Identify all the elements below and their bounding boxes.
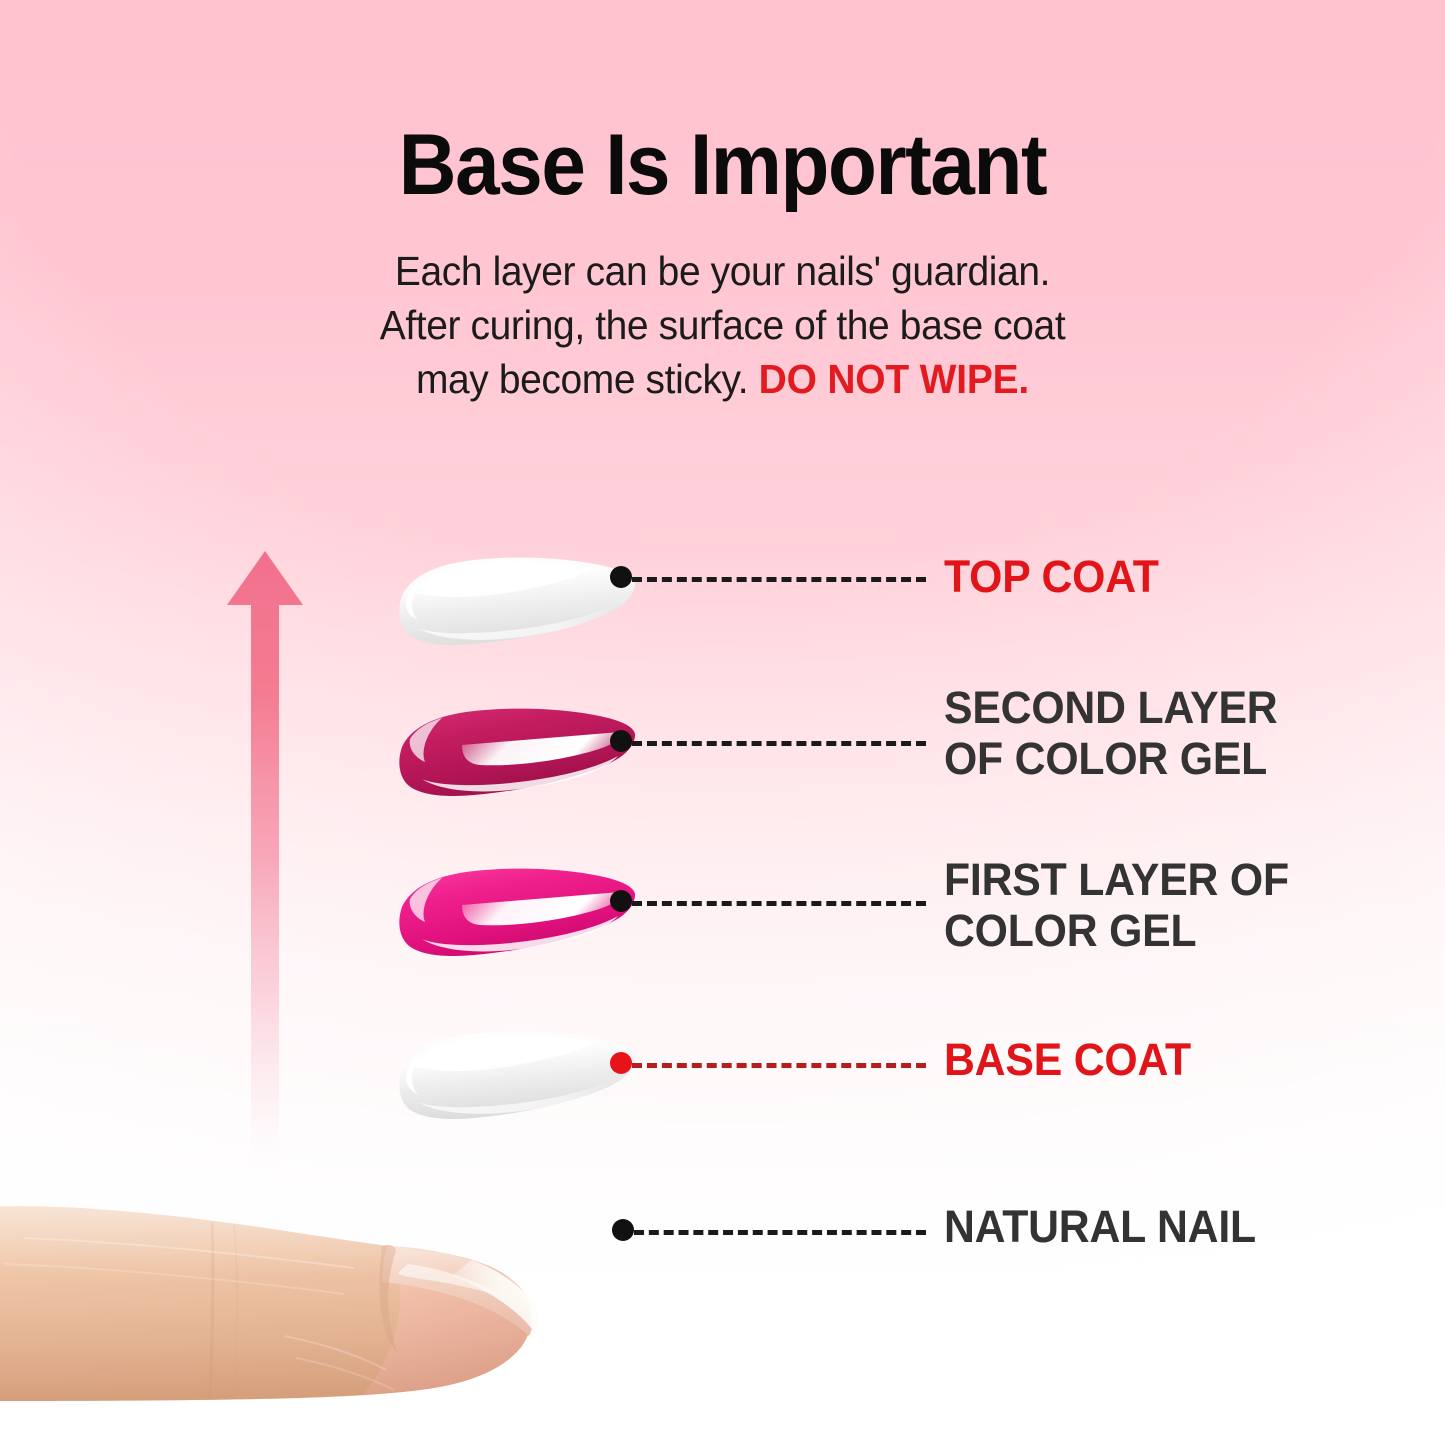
leader-line-first-layer-color-gel: [632, 901, 926, 906]
infographic-canvas: Base Is Important Each layer can be your…: [0, 0, 1445, 1445]
label-base-coat: BASE COAT: [944, 1034, 1191, 1085]
page-title: Base Is Important: [51, 0, 1395, 208]
marker-dot-first-layer-color-gel: [610, 890, 632, 912]
nail-second-layer-color-gel: [388, 703, 638, 815]
leader-line-second-layer-color-gel: [632, 741, 926, 746]
marker-dot-base-coat: [610, 1052, 632, 1074]
label-first-layer-color-gel: FIRST LAYER OF COLOR GEL: [944, 854, 1289, 957]
do-not-wipe-warning: DO NOT WIPE.: [759, 356, 1029, 402]
leader-line-natural-nail: [634, 1230, 926, 1235]
finger-with-natural-nail: [0, 1168, 604, 1445]
label-top-coat: TOP COAT: [944, 551, 1159, 602]
subtitle-line-2: After curing, the surface of the base co…: [36, 298, 1409, 352]
up-arrow-icon: [219, 548, 311, 1188]
subtitle-line-3-text: may become sticky.: [416, 356, 759, 402]
nail-first-layer-color-gel: [388, 863, 638, 975]
header-block: Base Is Important Each layer can be your…: [0, 0, 1445, 406]
label-second-layer-color-gel: SECOND LAYER OF COLOR GEL: [944, 682, 1277, 785]
subtitle-line-1: Each layer can be your nails' guardian.: [36, 244, 1409, 298]
leader-line-base-coat: [632, 1063, 926, 1068]
nail-base-coat: [388, 1026, 638, 1138]
label-natural-nail: NATURAL NAIL: [944, 1201, 1256, 1252]
subtitle-block: Each layer can be your nails' guardian. …: [36, 208, 1409, 406]
marker-dot-top-coat: [610, 566, 632, 588]
marker-dot-second-layer-color-gel: [610, 730, 632, 752]
nail-top-coat: [388, 552, 638, 664]
subtitle-line-3: may become sticky. DO NOT WIPE.: [36, 352, 1409, 406]
leader-line-top-coat: [632, 577, 926, 582]
marker-dot-natural-nail: [612, 1219, 634, 1241]
